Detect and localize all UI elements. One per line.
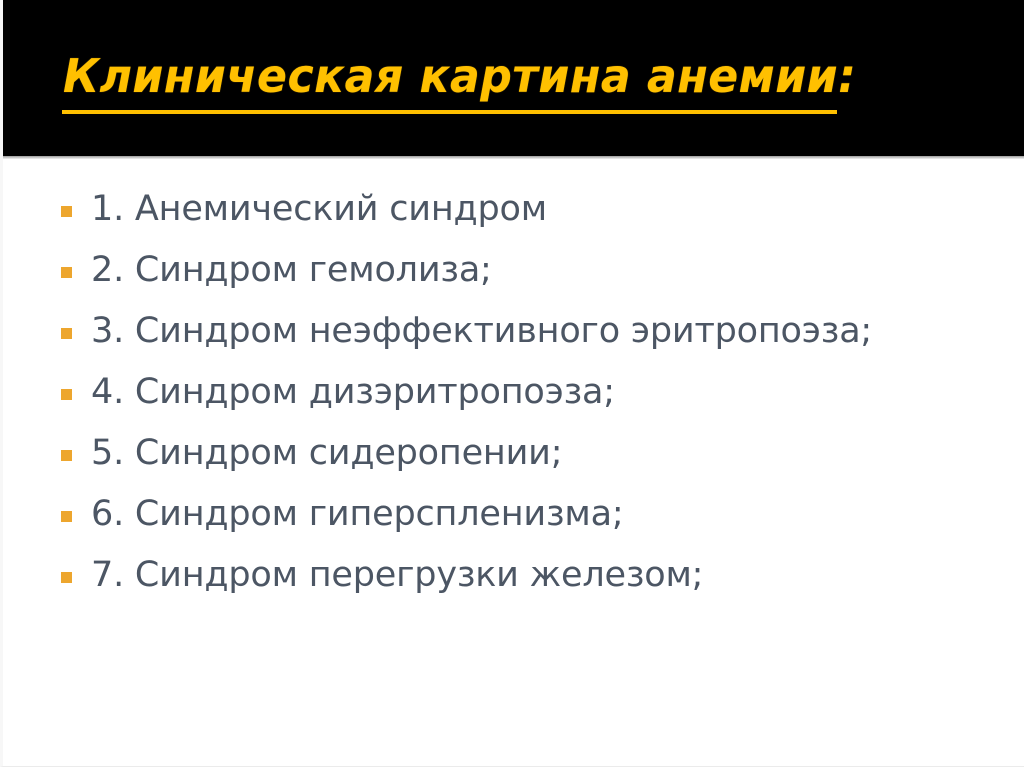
list-item-label: 1. Анемический синдром xyxy=(91,182,907,236)
list-item-label: 4. Синдром дизэритропоэза; xyxy=(91,365,907,419)
list-item: 6. Синдром гиперспленизма; xyxy=(3,487,1024,541)
list-item: 3. Синдром неэффективного эритропоэза; xyxy=(3,304,1024,358)
list-item-label: 5. Синдром сидеропении; xyxy=(91,426,907,480)
title-underline xyxy=(62,110,837,114)
slide-title: Клиническая картина анемии: xyxy=(63,52,856,100)
list-item-label: 7. Синдром перегрузки железом; xyxy=(91,548,907,602)
square-bullet-icon xyxy=(61,267,72,278)
square-bullet-icon xyxy=(61,328,72,339)
list-item-label: 6. Синдром гиперспленизма; xyxy=(91,487,907,541)
list-item: 1. Анемический синдром xyxy=(3,182,1024,236)
list-item: 2. Синдром гемолиза; xyxy=(3,243,1024,297)
square-bullet-icon xyxy=(61,572,72,583)
list-item-label: 2. Синдром гемолиза; xyxy=(91,243,907,297)
square-bullet-icon xyxy=(61,206,72,217)
presentation-slide: Клиническая картина анемии: 1. Анемическ… xyxy=(0,0,1024,767)
square-bullet-icon xyxy=(61,511,72,522)
square-bullet-icon xyxy=(61,389,72,400)
list-item-label: 3. Синдром неэффективного эритропоэза; xyxy=(91,304,907,358)
list-item: 5. Синдром сидеропении; xyxy=(3,426,1024,480)
bullet-list: 1. Анемический синдром 2. Синдром гемоли… xyxy=(3,182,1024,609)
square-bullet-icon xyxy=(61,450,72,461)
header-separator-line xyxy=(3,156,1024,159)
list-item: 4. Синдром дизэритропоэза; xyxy=(3,365,1024,419)
list-item: 7. Синдром перегрузки железом; xyxy=(3,548,1024,602)
